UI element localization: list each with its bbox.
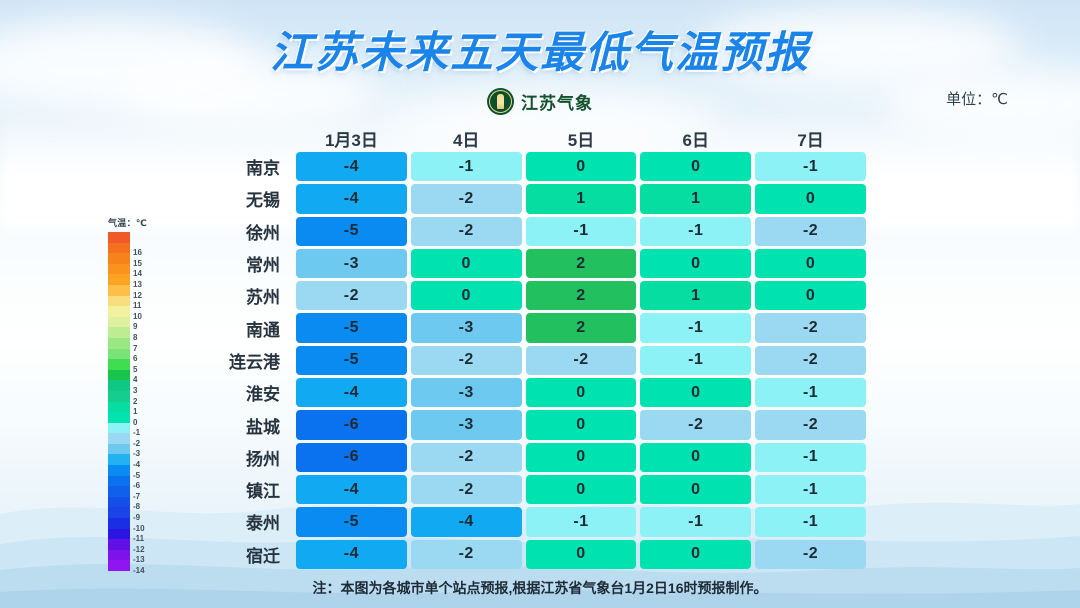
temperature-cell-wrap: -3 [409, 313, 524, 342]
city-label: 连云港 [196, 348, 294, 373]
city-label: 淮安 [196, 380, 294, 405]
legend-row: -8 [108, 497, 130, 508]
temperature-cell: -3 [411, 410, 522, 439]
temperature-cell: -4 [296, 378, 407, 407]
legend-colorbar: 161514131211109876543210-1-2-3-4-5-6-7-8… [108, 232, 130, 571]
temperature-cell-wrap: 0 [524, 540, 639, 569]
legend-tick-label: 7 [133, 345, 137, 353]
temperature-cell-wrap: -2 [409, 443, 524, 472]
temperature-cell-wrap: 0 [524, 410, 639, 439]
temperature-cell-wrap: 0 [524, 378, 639, 407]
temperature-cell: 0 [755, 249, 866, 278]
legend-swatch [108, 264, 130, 275]
table-row: 连云港-5-2-2-1-2 [196, 346, 868, 375]
table-row: 扬州-6-200-1 [196, 443, 868, 472]
temperature-cell-wrap: -1 [753, 152, 868, 181]
temperature-cell-wrap: -2 [409, 184, 524, 213]
legend-tick-label: -3 [133, 450, 140, 458]
legend-tick-label: -14 [133, 567, 145, 575]
temperature-cell-wrap: -2 [409, 346, 524, 375]
temperature-cell: -6 [296, 443, 407, 472]
temperature-cell: 0 [640, 152, 751, 181]
infographic-canvas: 江苏未来五天最低气温预报 江苏气象 单位：℃ 气温：℃ 161514131211… [0, 0, 1080, 608]
column-header-2: 4日 [409, 126, 524, 151]
temperature-cell: 2 [526, 313, 637, 342]
temperature-cell-wrap: 0 [753, 184, 868, 213]
legend-tick-label: 3 [133, 387, 137, 395]
brand-logo: 江苏气象 [487, 86, 593, 116]
temperature-cell: 0 [526, 443, 637, 472]
legend-row: 5 [108, 359, 130, 370]
legend-swatch [108, 444, 130, 455]
temperature-cell: -3 [411, 313, 522, 342]
table-row: 徐州-5-2-1-1-2 [196, 217, 868, 246]
temperature-cell: -5 [296, 217, 407, 246]
legend-tick-label: 4 [133, 376, 137, 384]
city-label: 南通 [196, 316, 294, 341]
temperature-cell-wrap: 0 [753, 281, 868, 310]
temperature-cell-wrap: -1 [409, 152, 524, 181]
legend-swatch [108, 296, 130, 307]
legend-row: -2 [108, 433, 130, 444]
temperature-cell: -2 [755, 313, 866, 342]
footnote: 注：本图为各城市单个站点预报,根据江苏省气象台1月2日16时预报制作。 [0, 578, 1080, 598]
temperature-cell-wrap: 1 [524, 184, 639, 213]
temperature-cell: -2 [755, 540, 866, 569]
legend-tick-label: -9 [133, 514, 140, 522]
temperature-cell: 0 [640, 540, 751, 569]
temperature-cell-wrap: -1 [638, 507, 753, 536]
legend-swatch [108, 465, 130, 476]
temperature-cell: -2 [411, 184, 522, 213]
legend-tick-label: 12 [133, 292, 142, 300]
legend-tick-label: 6 [133, 355, 137, 363]
table-row: 淮安-4-300-1 [196, 378, 868, 407]
temperature-cell: 0 [640, 378, 751, 407]
legend-tick-label: 2 [133, 398, 137, 406]
temperature-cell-wrap: -2 [753, 346, 868, 375]
legend-swatch [108, 232, 130, 243]
legend-tick-label: -5 [133, 472, 140, 480]
legend-swatch [108, 243, 130, 254]
temperature-cell-wrap: -3 [409, 378, 524, 407]
legend-swatch [108, 380, 130, 391]
legend-row: -10 [108, 518, 130, 529]
temperature-cell: -3 [411, 378, 522, 407]
temperature-cell-wrap: 0 [638, 475, 753, 504]
temperature-cell-wrap: -2 [753, 540, 868, 569]
temperature-cell: 1 [526, 184, 637, 213]
legend-swatch [108, 359, 130, 370]
city-label: 常州 [196, 251, 294, 276]
table-row: 宿迁-4-200-2 [196, 540, 868, 569]
page-title: 江苏未来五天最低气温预报 [0, 18, 1080, 80]
legend-row: -3 [108, 444, 130, 455]
temperature-cell: -2 [296, 281, 407, 310]
temperature-cell: -4 [296, 475, 407, 504]
legend-swatch [108, 285, 130, 296]
legend-tick-label: 9 [133, 323, 137, 331]
temperature-cell-wrap: -1 [638, 217, 753, 246]
legend-tick-label: -7 [133, 493, 140, 501]
temperature-cell-wrap: -5 [294, 313, 409, 342]
legend-tick-label: -10 [133, 525, 145, 533]
table-row: 盐城-6-30-2-2 [196, 410, 868, 439]
legend-row: 16 [108, 243, 130, 254]
legend-swatch [108, 253, 130, 264]
temperature-cell: -1 [640, 507, 751, 536]
temperature-cell: 0 [411, 281, 522, 310]
temperature-cell-wrap: -2 [294, 281, 409, 310]
temperature-cell: 0 [526, 475, 637, 504]
temperature-cell-wrap: -1 [524, 507, 639, 536]
temperature-cell-wrap: 2 [524, 313, 639, 342]
legend-tick-label: 14 [133, 270, 142, 278]
legend-swatch [108, 402, 130, 413]
table-row: 泰州-5-4-1-1-1 [196, 507, 868, 536]
legend-tick-label: 1 [133, 408, 137, 416]
temperature-cell: -1 [640, 346, 751, 375]
temperature-cell: -5 [296, 313, 407, 342]
city-label: 苏州 [196, 283, 294, 308]
temperature-cell: 1 [640, 281, 751, 310]
temperature-cell: -2 [411, 217, 522, 246]
temperature-cell: -2 [411, 443, 522, 472]
column-header-3: 5日 [524, 126, 639, 151]
legend-row: 9 [108, 317, 130, 328]
forecast-table: 1月3日4日5日6日7日 南京-4-100-1无锡-4-2110徐州-5-2-1… [196, 124, 868, 572]
temperature-cell: -1 [755, 475, 866, 504]
legend-row: 0 [108, 412, 130, 423]
legend-tick-label: 13 [133, 281, 142, 289]
legend-row: 3 [108, 380, 130, 391]
temperature-cell-wrap: -2 [753, 313, 868, 342]
city-label: 宿迁 [196, 542, 294, 567]
legend-row: 7 [108, 338, 130, 349]
legend-row: 13 [108, 274, 130, 285]
temperature-cell-wrap: -4 [294, 475, 409, 504]
temperature-cell-wrap: 0 [638, 540, 753, 569]
table-column-headers: 1月3日4日5日6日7日 [196, 124, 868, 152]
legend-tick-label: 15 [133, 260, 142, 268]
temperature-cell-wrap: 1 [638, 184, 753, 213]
temperature-cell: -2 [755, 346, 866, 375]
city-label: 南京 [196, 154, 294, 179]
temperature-cell: -2 [411, 346, 522, 375]
temperature-cell-wrap: -4 [409, 507, 524, 536]
column-header-5: 7日 [753, 126, 868, 151]
table-row: 镇江-4-200-1 [196, 475, 868, 504]
temperature-cell: 0 [640, 249, 751, 278]
temperature-cell-wrap: 0 [409, 249, 524, 278]
legend-swatch [108, 306, 130, 317]
legend-tick-label: 16 [133, 249, 142, 257]
temperature-cell: 0 [526, 152, 637, 181]
legend-swatch [108, 476, 130, 487]
legend-tick-label: -12 [133, 546, 145, 554]
temperature-cell-wrap: 2 [524, 249, 639, 278]
temperature-cell-wrap: -3 [409, 410, 524, 439]
temperature-cell: 0 [640, 475, 751, 504]
legend-swatch [108, 433, 130, 444]
temperature-cell-wrap: -4 [294, 540, 409, 569]
legend-row: 2 [108, 391, 130, 402]
column-header-1: 1月3日 [294, 126, 409, 151]
legend-row: -12 [108, 539, 130, 550]
temperature-cell-wrap: -1 [753, 475, 868, 504]
legend-row: 8 [108, 327, 130, 338]
temperature-cell: -1 [526, 217, 637, 246]
temperature-cell-wrap: 0 [638, 443, 753, 472]
legend-row [108, 232, 130, 243]
temperature-cell-wrap: -5 [294, 346, 409, 375]
temperature-cell-wrap: -4 [294, 152, 409, 181]
unit-label: 单位：℃ [946, 88, 1008, 109]
temperature-cell-wrap: -1 [524, 217, 639, 246]
temperature-cell-wrap: -6 [294, 410, 409, 439]
temperature-cell-wrap: 0 [524, 475, 639, 504]
temperature-cell: 2 [526, 281, 637, 310]
legend-row: -13 [108, 550, 130, 561]
temperature-cell: 0 [526, 410, 637, 439]
legend-tick-label: 5 [133, 366, 137, 374]
temperature-cell: -4 [411, 507, 522, 536]
city-label: 徐州 [196, 219, 294, 244]
legend-swatch [108, 539, 130, 550]
temperature-cell-wrap: -5 [294, 507, 409, 536]
legend-swatch [108, 274, 130, 285]
city-label: 泰州 [196, 509, 294, 534]
legend-swatch [108, 391, 130, 402]
temperature-cell-wrap: -2 [409, 217, 524, 246]
temperature-cell-wrap: -2 [638, 410, 753, 439]
city-label: 扬州 [196, 445, 294, 470]
temperature-cell-wrap: -5 [294, 217, 409, 246]
temperature-cell-wrap: 0 [753, 249, 868, 278]
temperature-cell: -4 [296, 152, 407, 181]
temperature-cell: -1 [411, 152, 522, 181]
temperature-cell-wrap: -2 [409, 475, 524, 504]
legend-swatch [108, 338, 130, 349]
legend-tick-label: 11 [133, 302, 141, 310]
temperature-cell-wrap: 0 [638, 378, 753, 407]
legend-swatch [108, 518, 130, 529]
temperature-cell: -1 [755, 443, 866, 472]
legend-title: 气温：℃ [108, 216, 170, 229]
temperature-cell-wrap: 0 [409, 281, 524, 310]
legend-row: 15 [108, 253, 130, 264]
temperature-cell-wrap: -1 [753, 378, 868, 407]
temperature-cell: -1 [755, 152, 866, 181]
jiangsu-meteorology-emblem-icon [487, 88, 514, 115]
temperature-legend: 气温：℃ 161514131211109876543210-1-2-3-4-5-… [108, 216, 170, 571]
city-label: 盐城 [196, 413, 294, 438]
legend-swatch [108, 529, 130, 540]
table-row: 常州-30200 [196, 249, 868, 278]
temperature-cell-wrap: -2 [524, 346, 639, 375]
temperature-cell: 2 [526, 249, 637, 278]
legend-tick-label: -6 [133, 482, 140, 490]
legend-tick-label: -1 [133, 429, 140, 437]
legend-row: 12 [108, 285, 130, 296]
city-label: 镇江 [196, 477, 294, 502]
temperature-cell: 0 [526, 378, 637, 407]
temperature-cell: 0 [526, 540, 637, 569]
legend-tick-label: -2 [133, 440, 140, 448]
legend-tick-label: 0 [133, 419, 137, 427]
legend-row: -6 [108, 476, 130, 487]
legend-swatch [108, 349, 130, 360]
legend-row: -14 [108, 560, 130, 571]
table-row: 南京-4-100-1 [196, 152, 868, 181]
temperature-cell-wrap: -1 [753, 507, 868, 536]
legend-swatch [108, 507, 130, 518]
legend-swatch [108, 486, 130, 497]
city-label: 无锡 [196, 186, 294, 211]
temperature-cell-wrap: -2 [753, 410, 868, 439]
temperature-cell: -4 [296, 184, 407, 213]
temperature-cell: 1 [640, 184, 751, 213]
temperature-cell-wrap: 0 [638, 152, 753, 181]
legend-swatch [108, 423, 130, 434]
temperature-cell: -2 [411, 540, 522, 569]
temperature-cell: -2 [755, 217, 866, 246]
legend-swatch [108, 454, 130, 465]
legend-tick-label: -8 [133, 503, 140, 511]
table-body: 南京-4-100-1无锡-4-2110徐州-5-2-1-1-2常州-30200苏… [196, 152, 868, 569]
legend-row: -11 [108, 529, 130, 540]
temperature-cell-wrap: 0 [524, 443, 639, 472]
table-row: 南通-5-32-1-2 [196, 313, 868, 342]
temperature-cell-wrap: -2 [409, 540, 524, 569]
legend-swatch [108, 370, 130, 381]
legend-row: 10 [108, 306, 130, 317]
legend-swatch [108, 550, 130, 561]
temperature-cell-wrap: -1 [638, 346, 753, 375]
temperature-cell: -5 [296, 507, 407, 536]
temperature-cell-wrap: 0 [638, 249, 753, 278]
temperature-cell: -3 [296, 249, 407, 278]
temperature-cell: 0 [755, 184, 866, 213]
temperature-cell-wrap: -4 [294, 184, 409, 213]
temperature-cell: -1 [640, 217, 751, 246]
temperature-cell: -2 [755, 410, 866, 439]
table-row: 苏州-20210 [196, 281, 868, 310]
temperature-cell: -1 [755, 378, 866, 407]
temperature-cell-wrap: -6 [294, 443, 409, 472]
legend-tick-label: 8 [133, 334, 137, 342]
temperature-cell-wrap: -1 [638, 313, 753, 342]
legend-row: -9 [108, 507, 130, 518]
temperature-cell-wrap: 1 [638, 281, 753, 310]
legend-swatch [108, 317, 130, 328]
legend-swatch [108, 497, 130, 508]
legend-row: 1 [108, 402, 130, 413]
temperature-cell: -2 [411, 475, 522, 504]
column-header-4: 6日 [638, 126, 753, 151]
legend-row: -5 [108, 465, 130, 476]
legend-row: -1 [108, 423, 130, 434]
temperature-cell: 0 [411, 249, 522, 278]
legend-swatch [108, 412, 130, 423]
legend-tick-label: -4 [133, 461, 140, 469]
legend-row: 11 [108, 296, 130, 307]
temperature-cell-wrap: -4 [294, 378, 409, 407]
temperature-cell-wrap: -1 [753, 443, 868, 472]
legend-swatch [108, 327, 130, 338]
brand-row: 江苏气象 [0, 86, 1080, 116]
legend-row: 6 [108, 349, 130, 360]
temperature-cell: -1 [755, 507, 866, 536]
temperature-cell: -2 [526, 346, 637, 375]
brand-name: 江苏气象 [521, 89, 593, 114]
temperature-cell: -1 [526, 507, 637, 536]
temperature-cell-wrap: 0 [524, 152, 639, 181]
temperature-cell: -4 [296, 540, 407, 569]
temperature-cell-wrap: -2 [753, 217, 868, 246]
legend-tick-label: -11 [133, 535, 144, 543]
legend-tick-label: -13 [133, 556, 145, 564]
temperature-cell: -2 [640, 410, 751, 439]
legend-swatch [108, 560, 130, 571]
temperature-cell: 0 [640, 443, 751, 472]
temperature-cell: 0 [755, 281, 866, 310]
temperature-cell-wrap: -3 [294, 249, 409, 278]
legend-row: -4 [108, 454, 130, 465]
temperature-cell: -1 [640, 313, 751, 342]
legend-row: 14 [108, 264, 130, 275]
legend-tick-label: 10 [133, 313, 142, 321]
temperature-cell-wrap: 2 [524, 281, 639, 310]
temperature-cell: -6 [296, 410, 407, 439]
legend-row: 4 [108, 370, 130, 381]
legend-row: -7 [108, 486, 130, 497]
temperature-cell: -5 [296, 346, 407, 375]
table-row: 无锡-4-2110 [196, 184, 868, 213]
